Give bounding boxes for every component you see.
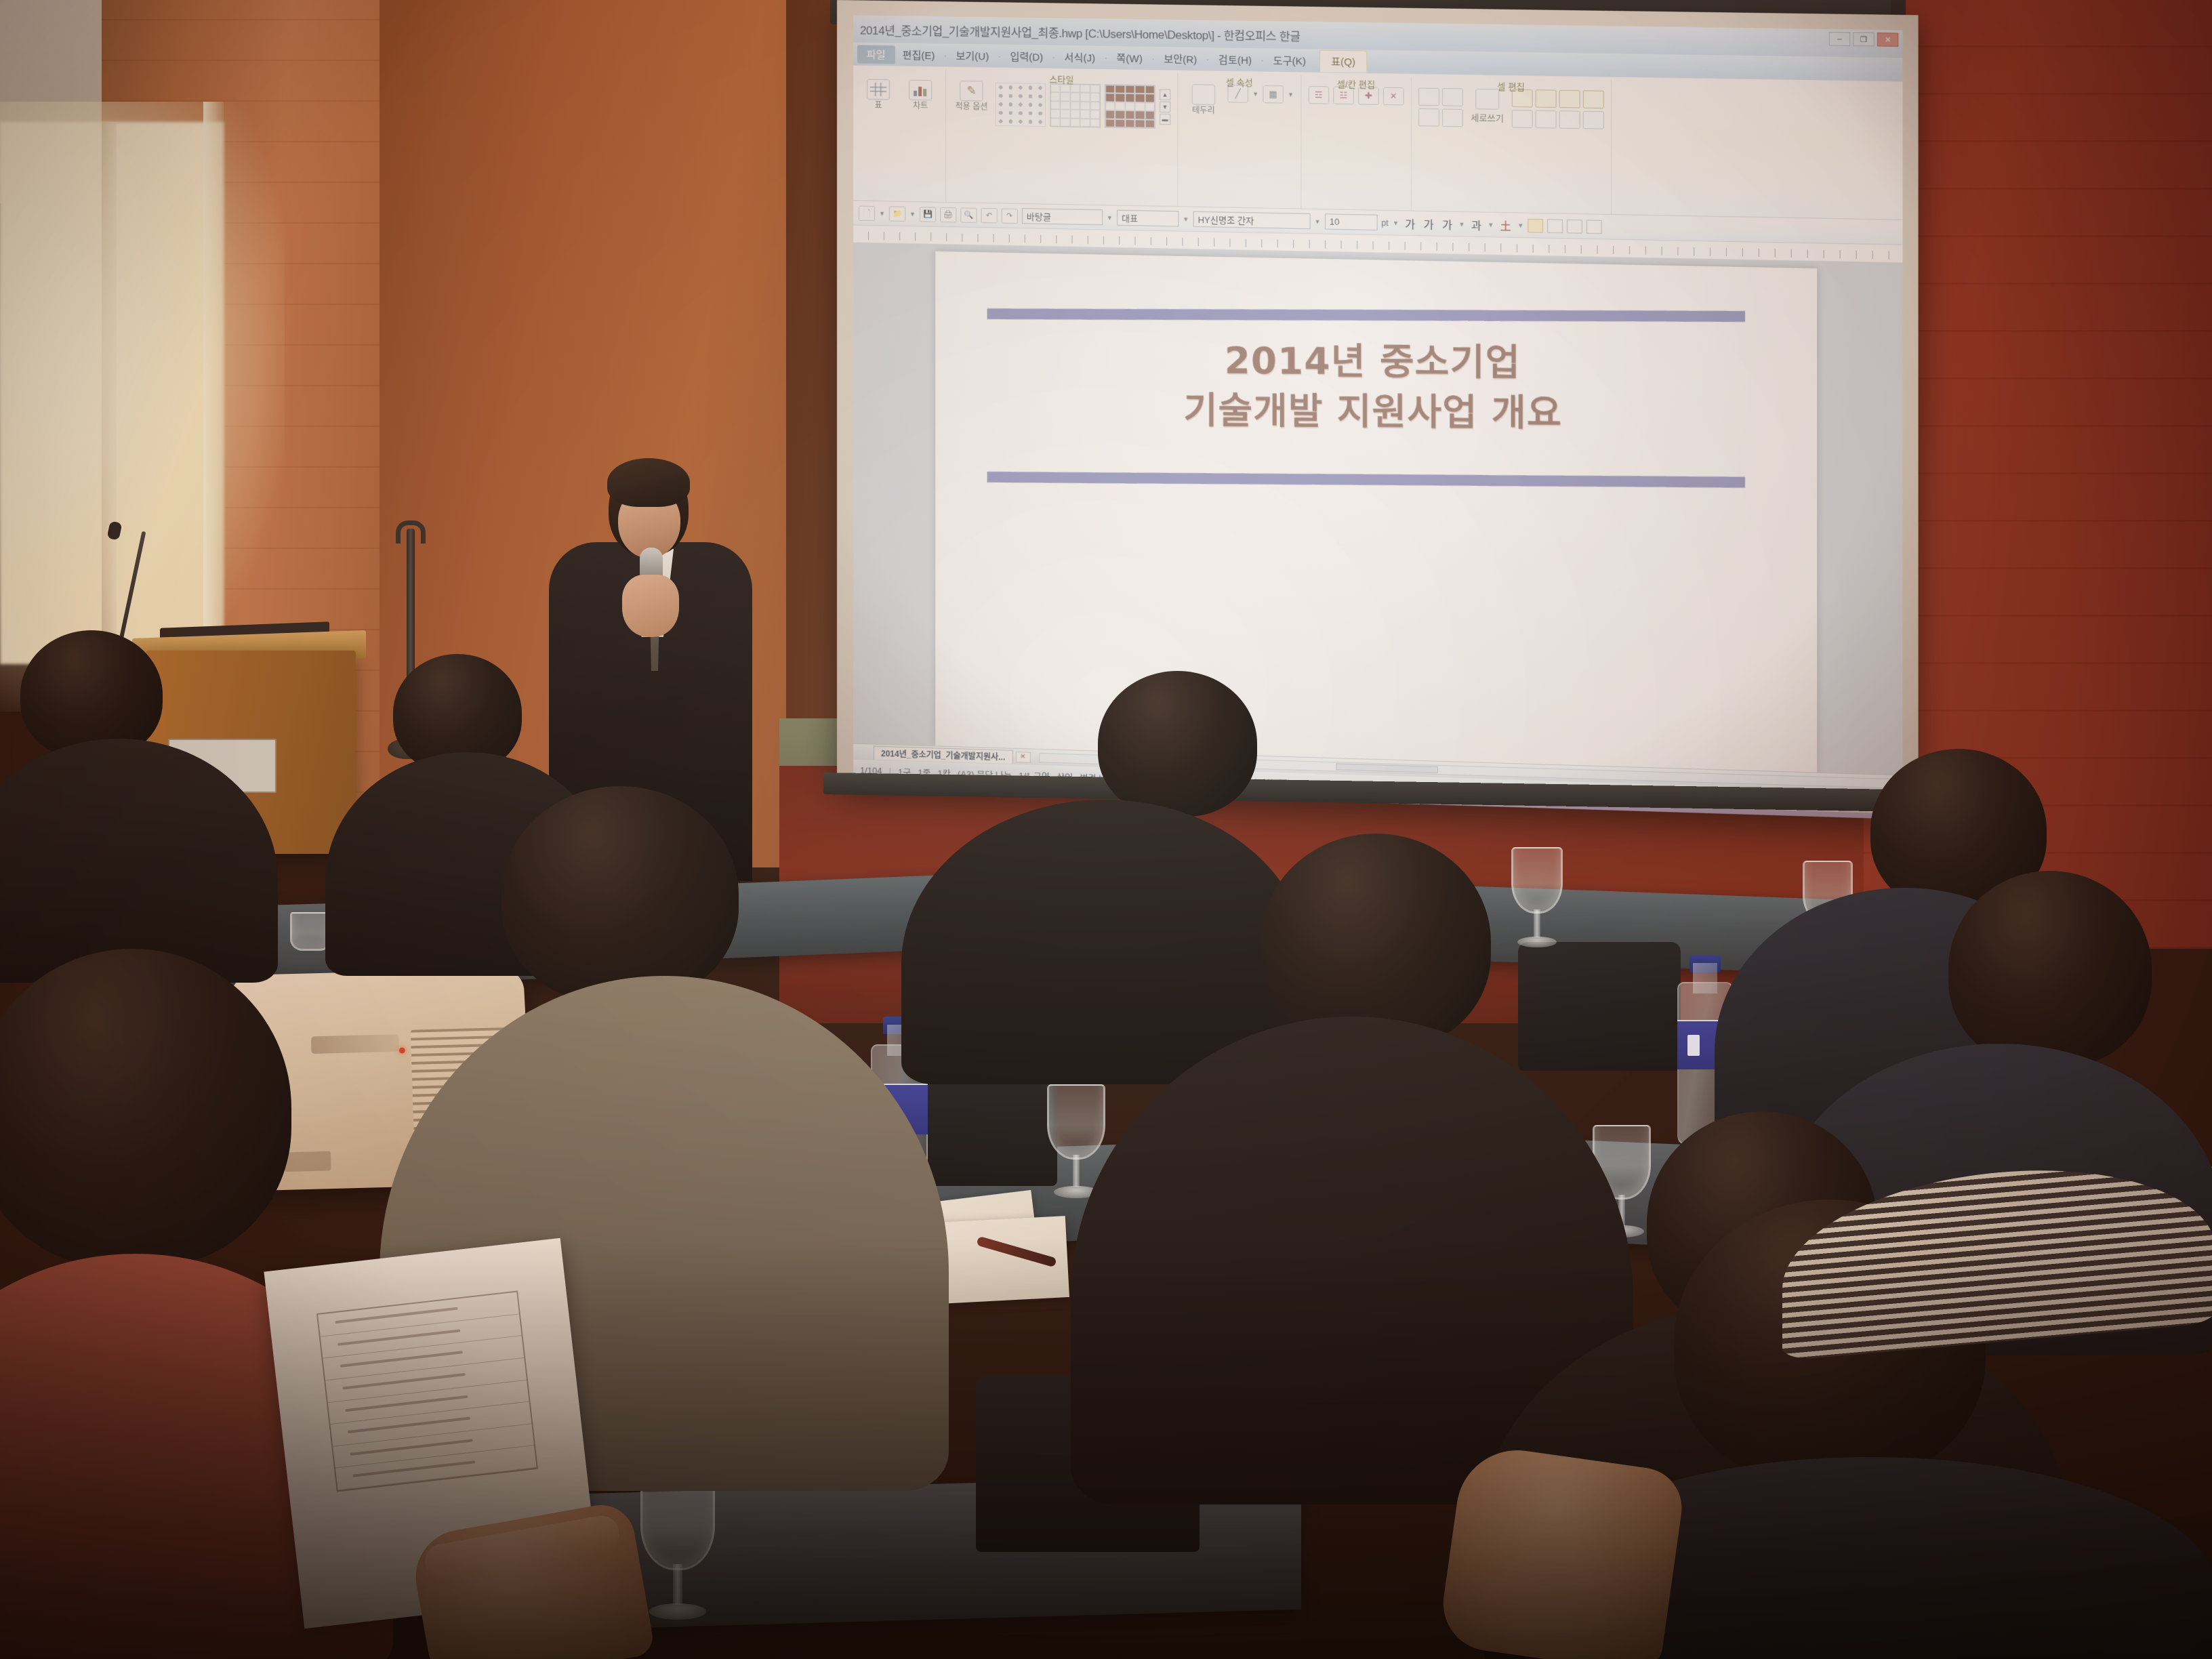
ribbon-group-label-cell-edit: 셀/칸 편집 — [1337, 77, 1375, 90]
ribbon-group-label-style: 스타일 — [1049, 73, 1073, 86]
font-color-button[interactable]: 土 — [1498, 216, 1513, 233]
ribbon-label-table: 표 — [874, 101, 882, 110]
font-family-select[interactable]: HY신명조 간자 — [1193, 211, 1310, 229]
font-size-unit: pt — [1381, 218, 1388, 227]
cell-align-buttons[interactable] — [1512, 89, 1604, 129]
minimize-button[interactable]: – — [1829, 32, 1850, 46]
style-swatch-grid[interactable] — [1050, 83, 1101, 128]
cell-layout-buttons[interactable] — [1418, 87, 1463, 127]
style-swatch-shaded[interactable] — [1105, 84, 1155, 129]
menu-item-edit[interactable]: 편집(E) — [897, 45, 941, 64]
italic-button[interactable]: 가 — [1422, 215, 1436, 232]
save-icon[interactable]: 💾 — [920, 207, 936, 222]
projector-brand-label — [311, 1034, 399, 1054]
audience-head — [501, 786, 739, 1003]
ribbon-item-apply-style[interactable]: 적용 옵션 — [953, 81, 989, 112]
chevron-down-icon[interactable]: ▼ — [1314, 218, 1320, 225]
window-glow — [0, 102, 285, 712]
align-bottom-left-icon[interactable] — [1512, 110, 1533, 128]
chevron-up-icon[interactable]: ▲ — [1160, 89, 1170, 100]
chair-back-right — [1518, 942, 1681, 1071]
menu-item-review[interactable]: 검토(H) — [1212, 50, 1258, 69]
close-icon[interactable]: ✕ — [1015, 751, 1030, 762]
menu-item-file[interactable]: 파일 — [857, 45, 895, 64]
ribbon-group-table: 표 차트 — [853, 68, 946, 202]
open-file-icon[interactable]: 📁 — [889, 206, 905, 221]
water-glass — [640, 1474, 715, 1620]
power-led-icon — [399, 1047, 405, 1053]
menu-sep: · — [1103, 49, 1109, 65]
handout-table — [316, 1290, 538, 1492]
merge-cell-icon[interactable]: ☲ — [1308, 86, 1329, 104]
table-icon — [867, 79, 890, 100]
menu-sep: · — [1050, 49, 1057, 64]
ribbon-item-table[interactable]: 표 — [860, 79, 897, 110]
ribbon-item-vertical-text[interactable]: 세로쓰기 — [1469, 89, 1507, 125]
undo-icon[interactable]: ↶ — [981, 207, 997, 223]
menu-item-tools[interactable]: 도구(K) — [1267, 51, 1312, 70]
style-swatch-plain[interactable] — [996, 83, 1046, 127]
ribbon-item-border[interactable]: 테두리 — [1185, 84, 1222, 115]
align-right-icon[interactable] — [1586, 220, 1602, 234]
slide-title-line2: 기술개발 지원사업 개요 — [935, 384, 1817, 441]
chevron-down-icon[interactable]: ▼ — [1183, 216, 1189, 222]
apply-style-icon — [960, 81, 983, 102]
cell-shade-icon[interactable]: ▦ — [1263, 85, 1284, 104]
align-bottom-center-icon[interactable] — [1536, 110, 1557, 129]
gallery-scroll-buttons[interactable]: ▲ ▼ ▬ — [1160, 89, 1170, 125]
close-button[interactable]: ✕ — [1877, 33, 1898, 47]
presenter-hair — [607, 458, 690, 507]
menu-item-security[interactable]: 보안(R) — [1158, 49, 1203, 68]
chevron-down-icon[interactable]: ▼ — [909, 210, 916, 217]
bold-button[interactable]: 가 — [1403, 215, 1417, 232]
chart-icon — [909, 80, 932, 101]
cell-split-horizontal-icon[interactable] — [1418, 87, 1439, 106]
vertical-text-icon — [1475, 89, 1499, 110]
align-middle-left-icon[interactable] — [1583, 90, 1604, 108]
ribbon-group-label-cell-edit2: 셀 편집 — [1497, 79, 1525, 93]
cell-split-vertical-icon[interactable] — [1442, 88, 1463, 106]
chevron-down-icon[interactable]: ▼ — [1160, 102, 1170, 112]
menu-sep: · — [996, 48, 1002, 64]
delete-row-icon[interactable]: ✕ — [1383, 87, 1404, 106]
chevron-down-icon[interactable]: ▼ — [879, 210, 885, 217]
cell-distribute-rows-icon[interactable] — [1418, 108, 1439, 127]
tab-table-context[interactable]: 표(Q) — [1319, 50, 1368, 73]
align-center-icon[interactable] — [1567, 219, 1582, 233]
table-style-gallery[interactable]: ▲ ▼ ▬ — [996, 83, 1171, 129]
chevron-down-icon[interactable]: ▼ — [1458, 221, 1465, 228]
gallery-more-icon[interactable]: ▬ — [1160, 114, 1170, 125]
projection-screen: 2014년_중소기업_기술개발지원사업_최종.hwp [C:\Users\Hom… — [837, 0, 1919, 820]
ribbon-label-apply-style: 적용 옵션 — [956, 102, 988, 111]
ribbon-group-cell-edit: 셀/칸 편집 ☲ ☳ ✚ ✕ — [1301, 75, 1412, 211]
redo-icon[interactable]: ↷ — [1002, 208, 1018, 224]
hand-foreground — [1437, 1442, 1687, 1659]
menu-item-view[interactable]: 보기(U) — [950, 46, 996, 65]
align-top-right-icon[interactable] — [1559, 90, 1580, 108]
new-document-icon[interactable]: 📄 — [859, 205, 875, 220]
chevron-down-icon[interactable]: ▼ — [1252, 91, 1258, 98]
preview-icon[interactable]: 🔍 — [960, 207, 977, 223]
audience-head — [1098, 671, 1257, 817]
ribbon-group-cell-property: 셀 속성 테두리 ╱ ▼ ▦ ▼ — [1178, 73, 1301, 209]
chevron-down-icon[interactable]: ▼ — [1107, 214, 1113, 221]
menu-item-page[interactable]: 쪽(W) — [1110, 49, 1149, 68]
window-controls[interactable]: – ❐ ✕ — [1829, 32, 1898, 47]
audience-head — [1948, 871, 2152, 1067]
menu-sep: · — [1204, 52, 1210, 67]
hwp-application-window[interactable]: 2014년_중소기업_기술개발지원사업_최종.hwp [C:\Users\Hom… — [853, 15, 1903, 812]
water-glass — [1511, 847, 1563, 947]
ribbon-label-vertical-text: 세로쓰기 — [1471, 110, 1504, 124]
underline-button[interactable]: 가 — [1440, 216, 1454, 232]
ribbon-label-chart: 차트 — [913, 102, 928, 110]
align-justify-icon[interactable] — [1528, 218, 1544, 232]
menu-sep: · — [1259, 52, 1265, 68]
slide-title-line1: 2014년 중소기업 — [935, 335, 1817, 390]
ribbon-group-cell-edit2: 셀 편집 세로쓰기 — [1412, 77, 1612, 214]
ribbon-group-label-cell-property: 셀 속성 — [1226, 75, 1253, 89]
cell-distribute-cols-icon[interactable] — [1442, 108, 1463, 127]
window-title: 2014년_중소기업_기술개발지원사업_최종.hwp [C:\Users\Hom… — [860, 20, 1300, 44]
strikethrough-button[interactable]: 과 — [1469, 216, 1483, 233]
presenter-hand — [622, 575, 679, 637]
menu-sep: · — [1150, 50, 1156, 66]
chevron-down-icon[interactable]: ▼ — [1517, 222, 1523, 228]
slide-title: 2014년 중소기업 기술개발 지원사업 개요 — [935, 335, 1817, 441]
menu-sep: · — [942, 47, 948, 63]
cell-border-icon — [1192, 84, 1216, 105]
maximize-button[interactable]: ❐ — [1853, 33, 1874, 47]
font-size-input[interactable]: 10 — [1325, 213, 1378, 230]
document-page[interactable]: 2014년 중소기업 기술개발 지원사업 개요 — [935, 251, 1817, 773]
align-left-icon[interactable] — [1547, 219, 1563, 233]
seminar-room-scene: 2014년_중소기업_기술개발지원사업_최종.hwp [C:\Users\Hom… — [0, 0, 2212, 1659]
align-bottom-right-icon[interactable] — [1559, 110, 1580, 129]
chevron-down-icon[interactable]: ▼ — [1393, 220, 1399, 226]
menu-item-format[interactable]: 서식(J) — [1058, 47, 1101, 66]
chevron-down-icon[interactable]: ▼ — [1488, 221, 1494, 228]
align-top-center-icon[interactable] — [1536, 89, 1557, 108]
menu-item-input[interactable]: 입력(D) — [1004, 47, 1049, 66]
ribbon-item-chart[interactable]: 차트 — [902, 80, 939, 111]
paragraph-style-select[interactable]: 대표 — [1117, 210, 1179, 227]
align-middle-center-icon[interactable] — [1583, 111, 1604, 129]
print-icon[interactable]: 🖨 — [940, 207, 956, 222]
ribbon-label-border: 테두리 — [1192, 106, 1215, 115]
ribbon-group-style: 스타일 적용 옵션 — [946, 69, 1178, 206]
document-canvas[interactable]: 2014년 중소기업 기술개발 지원사업 개요 — [853, 243, 1903, 775]
chevron-down-icon[interactable]: ▼ — [1288, 91, 1294, 98]
title-accent-bar-top — [987, 308, 1745, 322]
style-select[interactable]: 바탕글 — [1022, 208, 1103, 225]
ribbon-toolbar[interactable]: 표 차트 스타일 적용 옵션 — [853, 65, 1903, 220]
projector-lens-cover — [284, 1151, 331, 1172]
title-accent-bar-bottom — [987, 472, 1745, 488]
